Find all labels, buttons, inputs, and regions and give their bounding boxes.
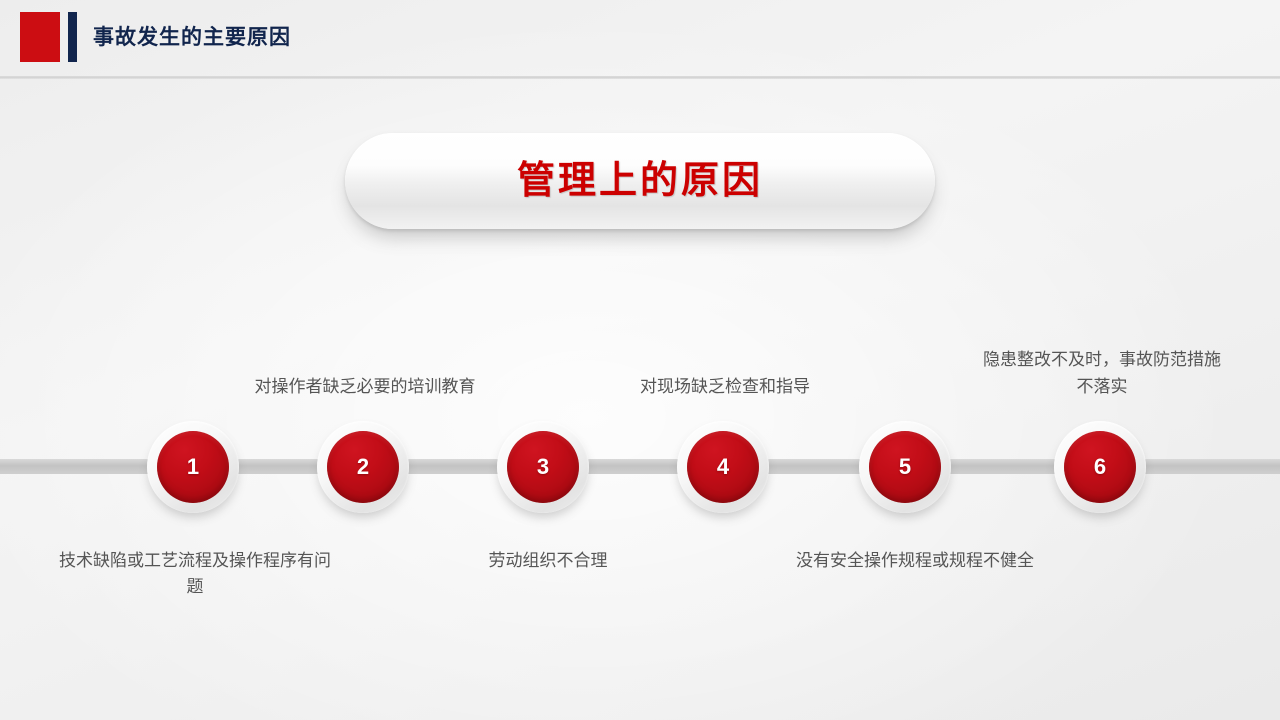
- timeline-caption-6: 隐患整改不及时，事故防范措施不落实: [978, 347, 1226, 400]
- timeline-node-number: 6: [1094, 456, 1106, 478]
- timeline-caption-1: 技术缺陷或工艺流程及操作程序有问题: [55, 548, 335, 601]
- timeline-caption-4: 对现场缺乏检查和指导: [600, 374, 850, 400]
- page-title: 事故发生的主要原因: [93, 21, 291, 51]
- timeline-node-3[interactable]: 3: [497, 421, 589, 513]
- timeline-node-number: 2: [357, 456, 369, 478]
- timeline-nodes: 1技术缺陷或工艺流程及操作程序有问题2对操作者缺乏必要的培训教育3劳动组织不合理…: [0, 0, 1280, 720]
- timeline-node-5[interactable]: 5: [859, 421, 951, 513]
- timeline-node-number: 1: [187, 456, 199, 478]
- timeline-caption-2: 对操作者缺乏必要的培训教育: [230, 374, 500, 400]
- timeline-node-disc: 5: [869, 431, 941, 503]
- timeline-node-number: 3: [537, 456, 549, 478]
- header-red-block-icon: [20, 12, 60, 62]
- timeline-node-4[interactable]: 4: [677, 421, 769, 513]
- section-title-pill[interactable]: 管理上的原因: [345, 133, 935, 229]
- header-divider: [0, 76, 1280, 79]
- timeline-node-disc: 6: [1064, 431, 1136, 503]
- timeline-node-1[interactable]: 1: [147, 421, 239, 513]
- timeline-node-number: 4: [717, 456, 729, 478]
- slide-root: 事故发生的主要原因 管理上的原因 1技术缺陷或工艺流程及操作程序有问题2对操作者…: [0, 0, 1280, 720]
- timeline-caption-3: 劳动组织不合理: [448, 548, 648, 574]
- section-title-label: 管理上的原因: [517, 162, 763, 200]
- timeline-node-disc: 3: [507, 431, 579, 503]
- header-navy-bar-icon: [68, 12, 77, 62]
- timeline-node-disc: 1: [157, 431, 229, 503]
- slide-header: 事故发生的主要原因: [0, 0, 1280, 78]
- timeline-node-2[interactable]: 2: [317, 421, 409, 513]
- timeline-node-disc: 2: [327, 431, 399, 503]
- timeline-node-6[interactable]: 6: [1054, 421, 1146, 513]
- timeline-caption-5: 没有安全操作规程或规程不健全: [790, 548, 1040, 574]
- timeline-node-number: 5: [899, 456, 911, 478]
- timeline-node-disc: 4: [687, 431, 759, 503]
